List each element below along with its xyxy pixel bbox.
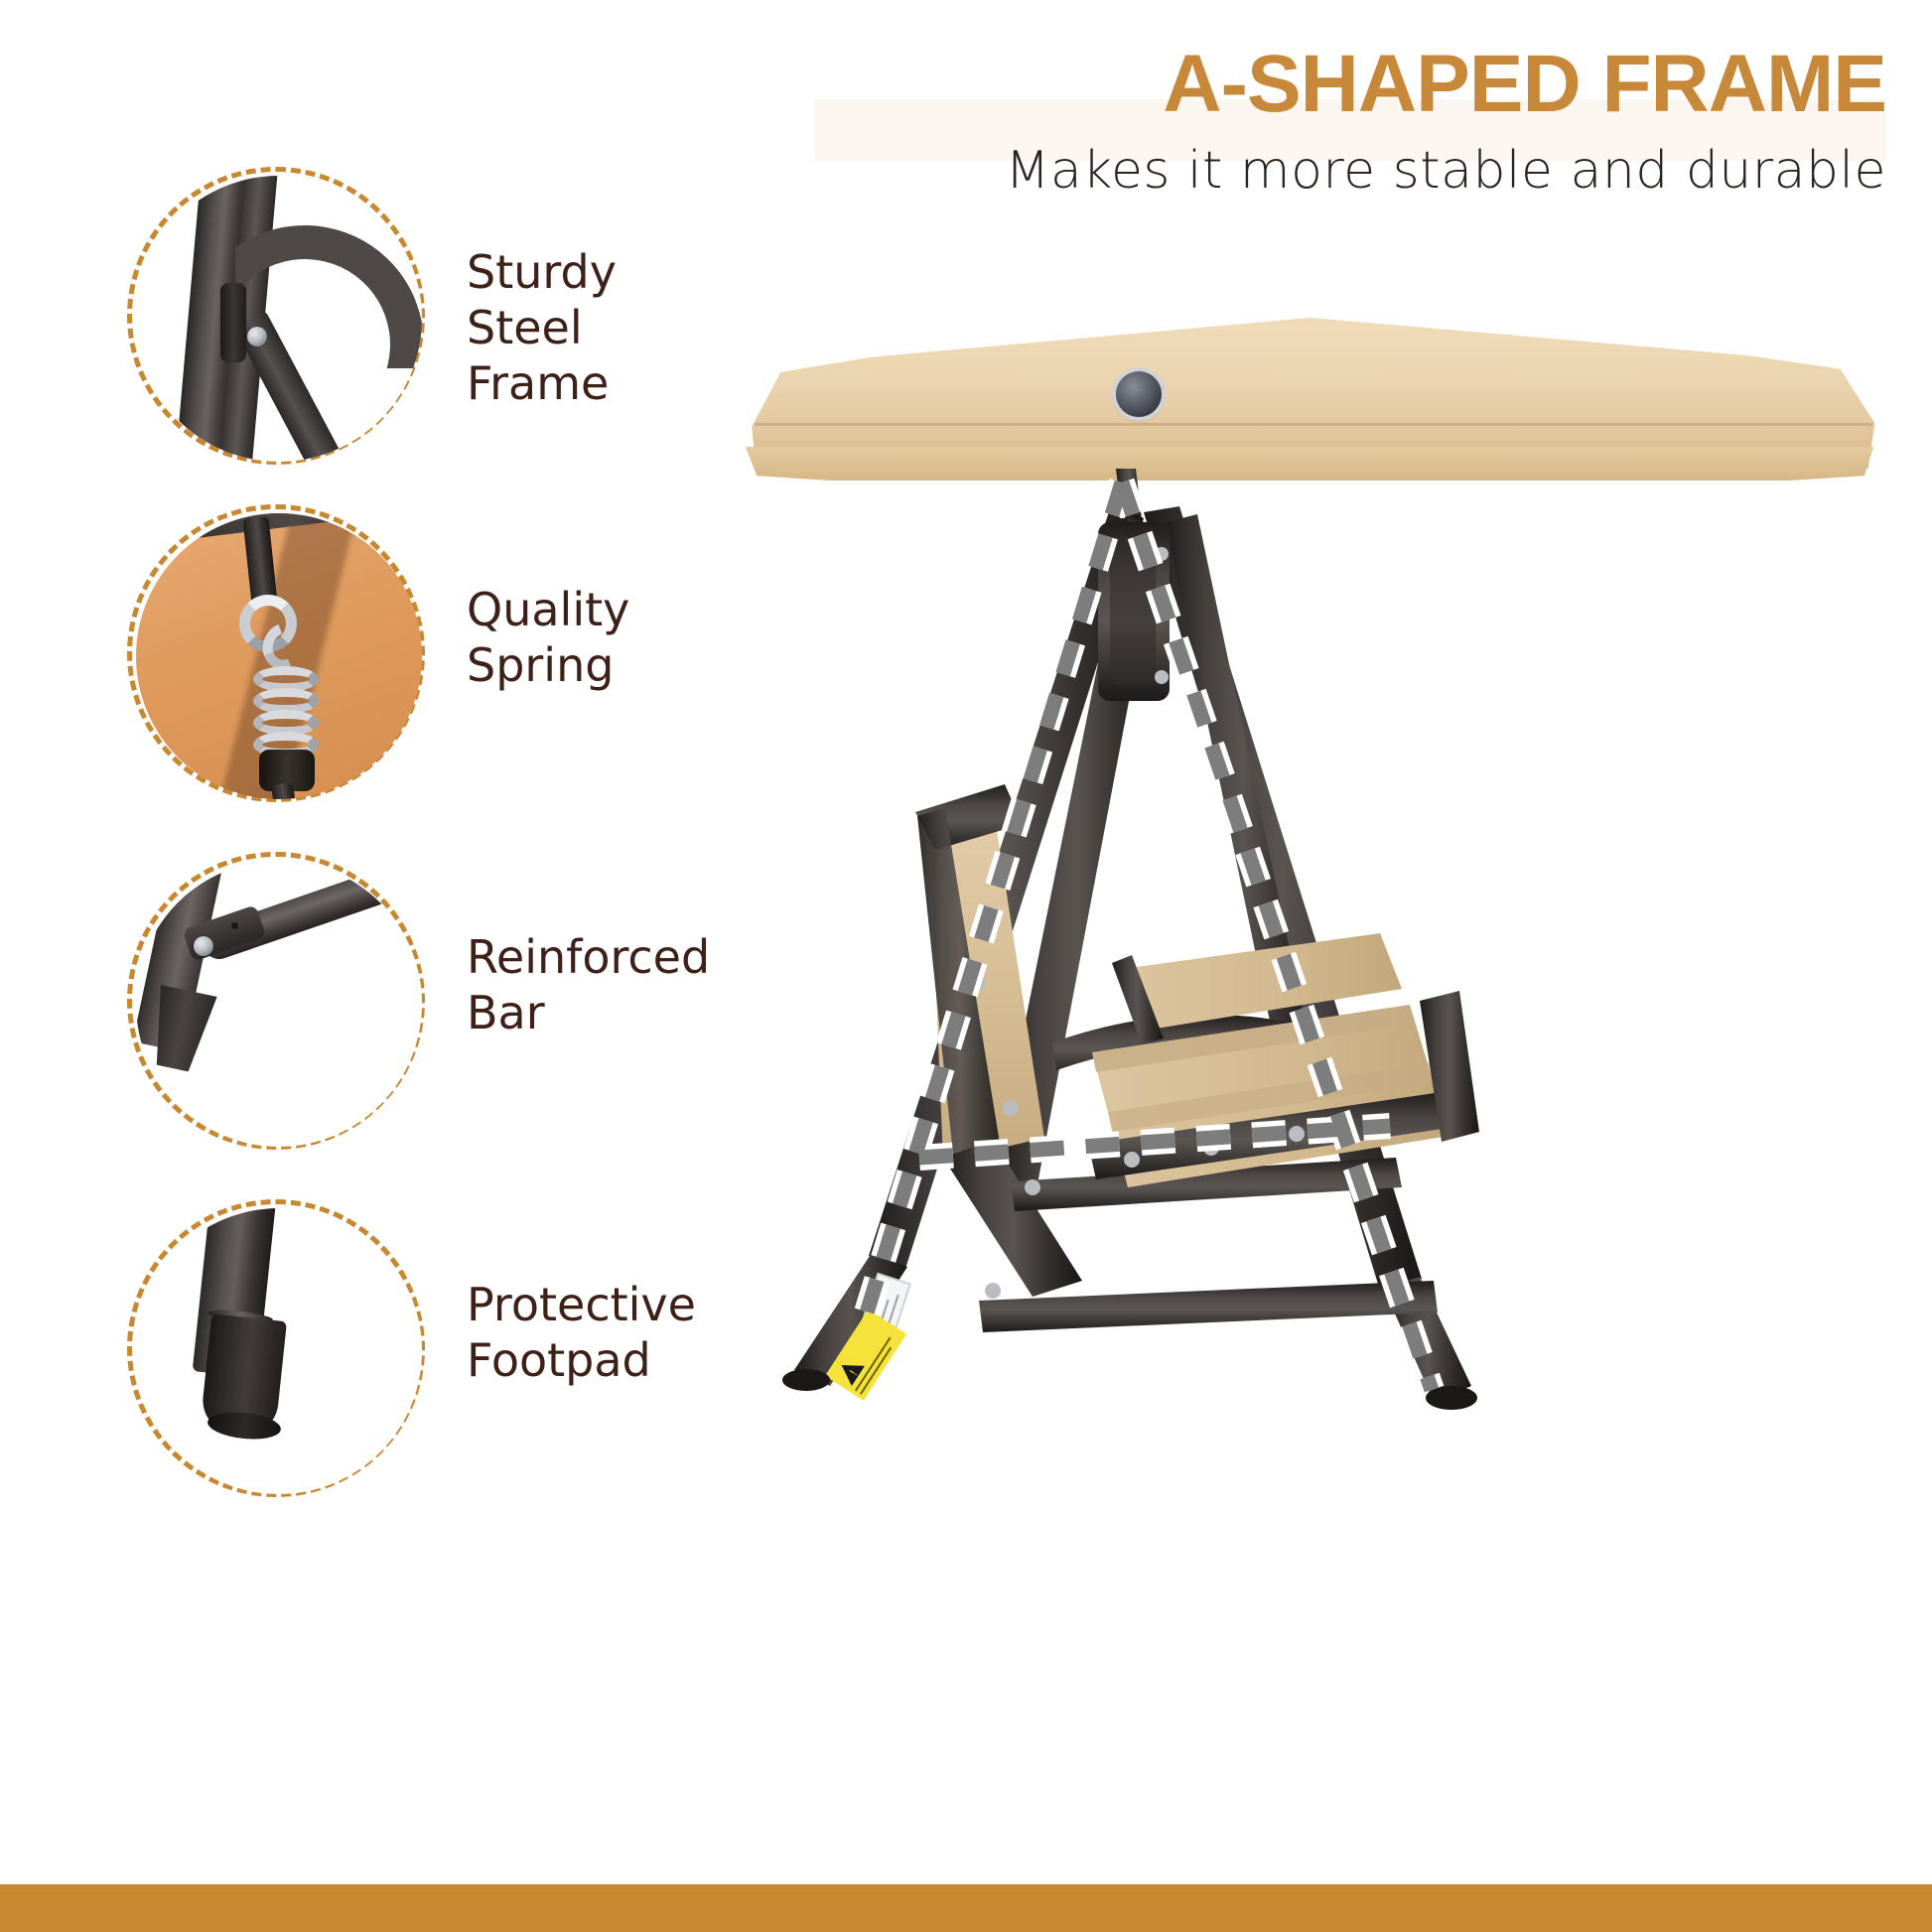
callout-circle-1	[127, 167, 425, 465]
bolt-icon	[1025, 1179, 1040, 1195]
footer-accent-bar	[0, 1884, 1932, 1932]
steel-bracket	[220, 283, 246, 362]
feature-label-3: Reinforced Bar	[467, 929, 710, 1040]
bolt-icon	[247, 327, 267, 346]
foot-pad-right	[1426, 1386, 1477, 1410]
swing-frame-svg: !	[695, 288, 1932, 1459]
callout-circle-4	[127, 1199, 425, 1497]
foot-pad-left	[782, 1369, 830, 1391]
pin-hole-icon	[231, 922, 238, 929]
bolt-icon	[985, 1283, 1001, 1299]
bolt-icon	[1155, 547, 1169, 561]
feature-label-4: Protective Footpad	[467, 1277, 696, 1388]
callout-photo-reinforced-bar	[136, 861, 422, 1147]
product-image-canopy-swing: !	[695, 288, 1932, 1459]
bolt-icon	[194, 936, 213, 956]
feature-label-2: Quality Spring	[467, 582, 629, 693]
bolt-icon	[1124, 1152, 1140, 1168]
callout-photo-spring	[136, 513, 422, 799]
feature-callout-sturdy-steel-frame: Sturdy Steel Frame	[127, 167, 743, 465]
feature-callout-quality-spring: Quality Spring	[127, 504, 743, 802]
bolt-icon	[1203, 1140, 1219, 1156]
callout-circle-2	[127, 504, 425, 802]
infographic-page: A-SHAPED FRAME Makes it more stable and …	[0, 0, 1932, 1932]
bolt-icon	[1289, 1126, 1305, 1142]
bolt-icon	[972, 976, 986, 990]
callout-photo-footpad	[136, 1208, 422, 1494]
page-subtitle: Makes it more stable and durable	[635, 141, 1886, 201]
bolt-icon	[1155, 670, 1169, 684]
feature-callout-protective-footpad: Protective Footpad	[127, 1199, 743, 1497]
callout-circle-3	[127, 852, 425, 1150]
bolt-icon	[1003, 1100, 1019, 1116]
page-title: A-SHAPED FRAME	[695, 44, 1886, 125]
feature-callout-reinforced-bar: Reinforced Bar	[127, 852, 743, 1150]
callout-photo-steel-frame	[136, 176, 422, 462]
apex-clamp-inner	[1110, 536, 1156, 685]
bolt-icon	[1372, 1114, 1388, 1130]
